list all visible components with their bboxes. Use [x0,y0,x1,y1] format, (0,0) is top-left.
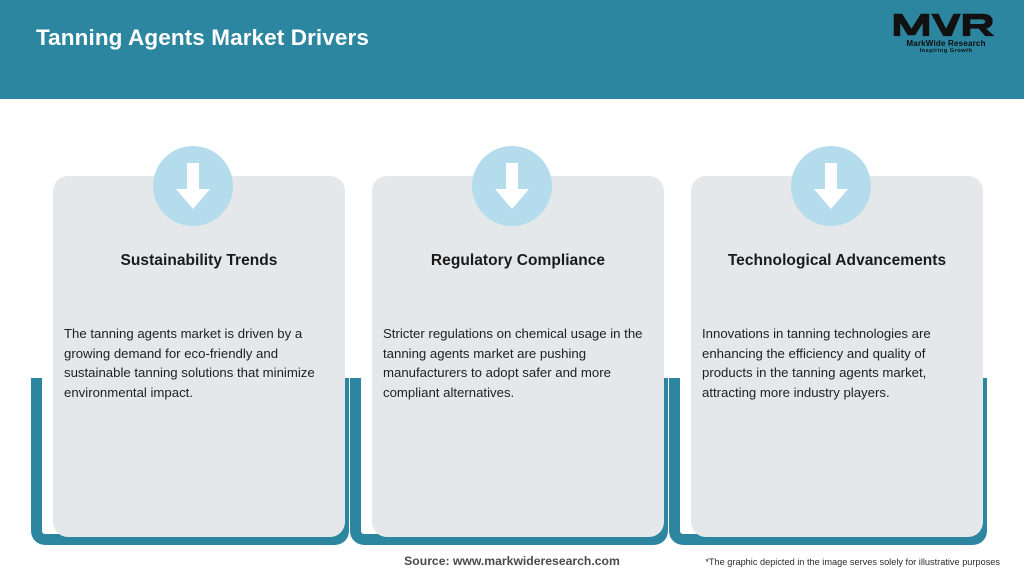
logo-tagline: Inspiring Growth [890,48,1002,55]
slide-canvas: Tanning Agents Market Drivers MarkWide R… [0,0,1024,576]
card-regulatory-compliance[interactable]: Regulatory Compliance Stricter regulatio… [372,176,664,537]
card-technological-advancements[interactable]: Technological Advancements Innovations i… [691,176,983,537]
arrow-down-icon [472,146,552,226]
arrow-down-icon [791,146,871,226]
arrow-down-icon [153,146,233,226]
page-title: Tanning Agents Market Drivers [36,25,369,51]
card-body: Innovations in tanning technologies are … [702,324,978,402]
card-body: The tanning agents market is driven by a… [64,324,340,402]
mwr-monogram-icon [890,10,1002,38]
card-body: Stricter regulations on chemical usage i… [383,324,659,402]
card-heading: Technological Advancements [691,252,983,270]
brand-logo: MarkWide Research Inspiring Growth [890,10,1002,58]
card-heading: Regulatory Compliance [372,252,664,270]
logo-company-name: MarkWide Research [890,39,1002,48]
disclaimer-label: *The graphic depicted in the image serve… [705,557,1000,567]
card-heading: Sustainability Trends [53,252,345,270]
card-sustainability-trends[interactable]: Sustainability Trends The tanning agents… [53,176,345,537]
